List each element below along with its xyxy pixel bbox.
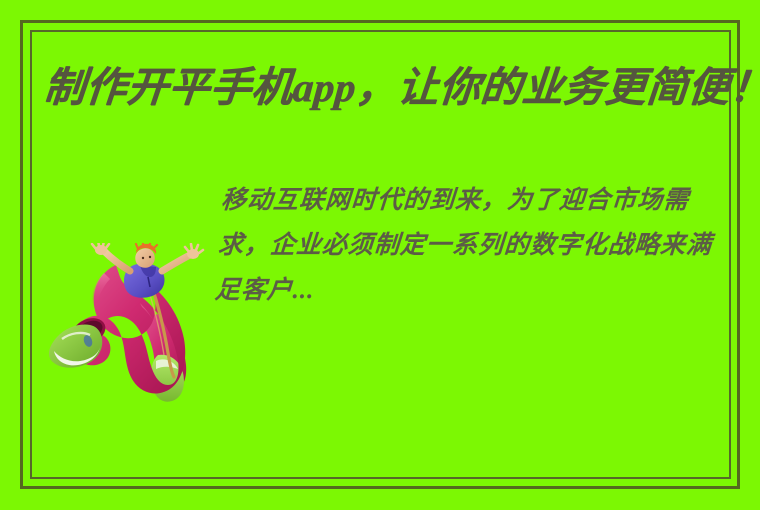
promo-banner: 制作开平手机app，让你的业务更简便！ 移动互联网时代的到来，为了迎合市场需求，…	[0, 0, 760, 510]
jumping-character-illustration	[44, 243, 214, 403]
headline-title: 制作开平手机app，让你的业务更简便！	[41, 58, 736, 116]
body-description: 移动互联网时代的到来，为了迎合市场需求，企业必须制定一系列的数字化战略来满足客户…	[213, 178, 732, 313]
character-head	[135, 243, 157, 268]
